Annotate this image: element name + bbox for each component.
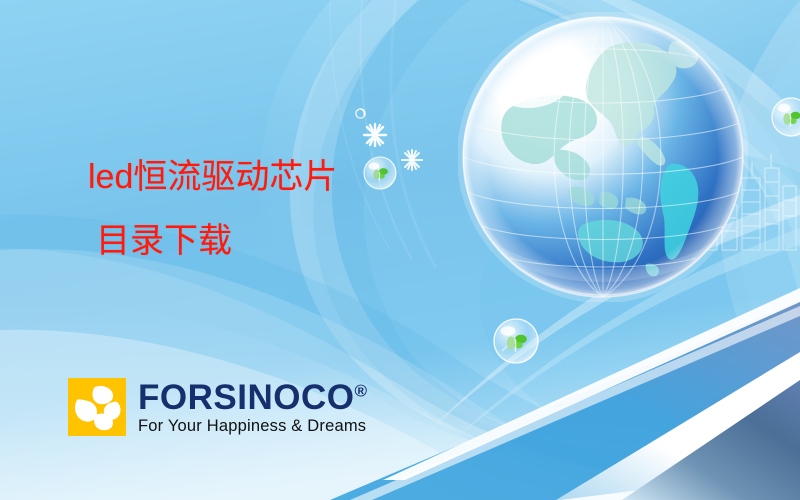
logo-brand-word: FORSINOCO	[138, 378, 354, 417]
promotional-banner: led恒流驱动芯片 目录下载 FORSINOCO® For Your Happi…	[0, 0, 800, 500]
four-petal-flower-icon	[68, 378, 126, 436]
world-globe-icon	[458, 12, 748, 302]
logo-brand-name: FORSINOCO®	[138, 380, 367, 415]
headline-block: led恒流驱动芯片 目录下载	[0, 160, 420, 258]
headline-line-2: 目录下载	[0, 224, 420, 258]
logo-text-block: FORSINOCO® For Your Happiness & Dreams	[138, 380, 367, 435]
logo-tagline: For Your Happiness & Dreams	[138, 418, 367, 435]
headline-line-1: led恒流驱动芯片	[0, 160, 420, 194]
company-logo: FORSINOCO® For Your Happiness & Dreams	[68, 378, 367, 436]
registered-trademark-icon: ®	[354, 381, 367, 400]
